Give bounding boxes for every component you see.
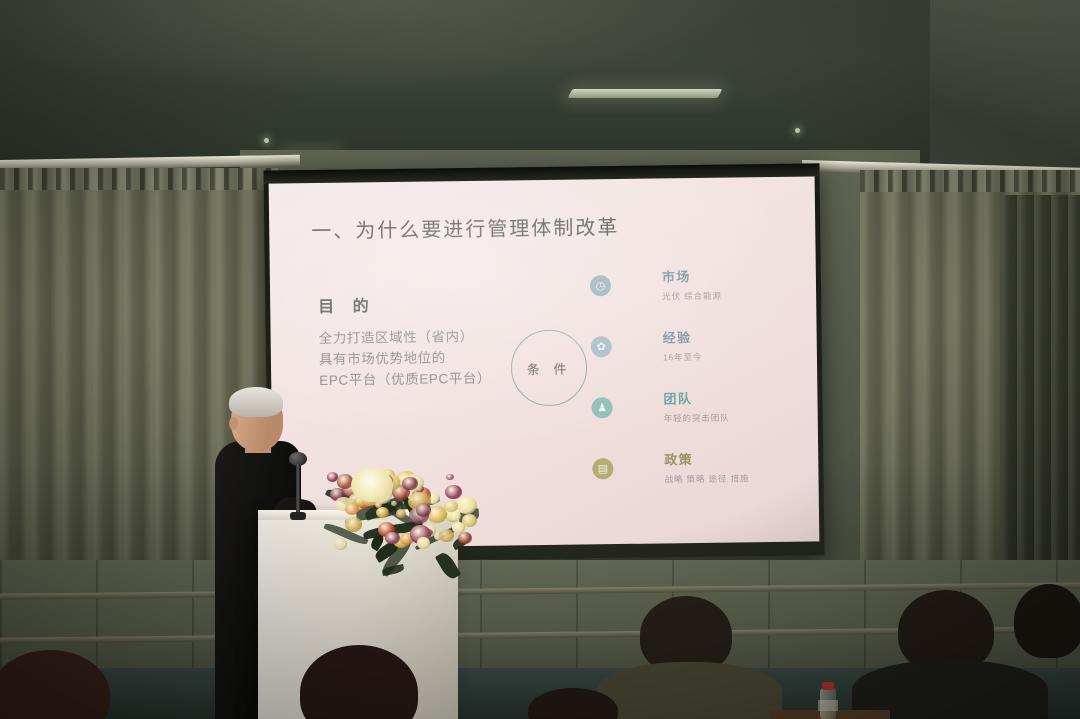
flower-bloom — [456, 496, 477, 514]
ceiling-spotlight — [264, 138, 269, 143]
item-market: 市场 光伏 综合能源 — [662, 266, 722, 303]
ceiling-light-strip — [568, 89, 723, 98]
flower-bloom — [444, 500, 458, 512]
item-subtitle: 年轻的突击团队 — [664, 412, 730, 425]
presentation-photo-scene: 一、为什么要进行管理体制改革 目 的 全力打造区域性（省内） 具有市场优势地位的… — [0, 0, 1080, 719]
ceiling-spotlight — [795, 128, 800, 133]
lily-bloom — [351, 468, 393, 502]
bottle-label — [818, 700, 838, 711]
curtain-hooks — [860, 170, 1080, 192]
goal-body: 全力打造区域性（省内） 具有市场优势地位的 EPC平台（优质EPC平台） — [319, 326, 492, 391]
speaker-hair — [229, 387, 283, 417]
condition-circle: 条 件 — [511, 329, 588, 406]
bottle-cap — [822, 682, 834, 690]
audience-head — [1014, 584, 1080, 658]
item-title: 政策 — [664, 448, 749, 468]
goal-line: EPC平台（优质EPC平台） — [319, 368, 491, 391]
speaker-ear — [229, 417, 238, 430]
item-title: 团队 — [663, 388, 729, 408]
item-experience: 经验 16年至今 — [663, 327, 703, 364]
flower-leaf — [435, 550, 461, 581]
item-subtitle: 光伏 综合能源 — [662, 290, 722, 303]
flower-bloom — [345, 503, 359, 515]
clock-icon: ◷ — [590, 275, 611, 296]
ceiling — [0, 0, 1080, 168]
item-title: 经验 — [663, 327, 703, 347]
goal-line: 具有市场优势地位的 — [319, 347, 491, 370]
flower-bloom — [452, 522, 464, 533]
goal-line: 全力打造区域性（省内） — [319, 326, 491, 349]
slide-title: 一、为什么要进行管理体制改革 — [311, 211, 619, 244]
flower-bloom — [385, 532, 400, 545]
item-team: 团队 年轻的突击团队 — [663, 388, 729, 425]
flower-bloom — [396, 509, 406, 518]
flower-bloom — [334, 538, 347, 550]
goal-heading: 目 的 — [318, 292, 376, 317]
microphone-stem — [296, 464, 300, 518]
item-subtitle: 16年至今 — [663, 351, 702, 364]
policy-icon: ▤ — [592, 458, 613, 479]
flower-bloom — [446, 474, 453, 480]
microphone-base — [290, 512, 306, 520]
flower-bloom — [345, 517, 362, 532]
item-subtitle: 战略 策略 途径 措施 — [664, 472, 749, 485]
item-policy: 政策 战略 策略 途径 措施 — [664, 448, 749, 485]
wall-corner — [930, 0, 1080, 172]
item-title: 市场 — [662, 266, 722, 286]
curtain-hooks — [0, 168, 278, 190]
flower-bloom — [402, 477, 417, 490]
team-icon: ♟ — [591, 397, 612, 418]
flower-bloom — [450, 511, 461, 521]
flower-bloom — [417, 537, 430, 548]
gear-icon: ✿ — [591, 336, 612, 357]
condition-label: 条 件 — [527, 358, 572, 378]
audience-body — [596, 662, 782, 719]
flower-arrangement — [311, 450, 481, 582]
microphone — [289, 452, 307, 518]
flower-bloom — [458, 532, 472, 544]
